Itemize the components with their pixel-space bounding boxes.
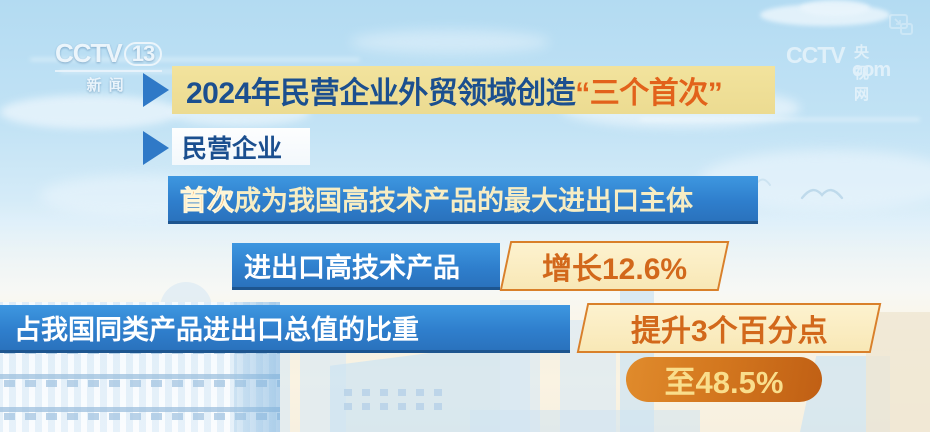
logo-divider bbox=[55, 70, 162, 72]
point-2-tag: 增长12.6% bbox=[500, 241, 730, 291]
headline-main-text: 2024年民营企业外贸领域创造 bbox=[186, 77, 575, 110]
window bbox=[362, 403, 370, 410]
point-3-pill: 至48.5% bbox=[626, 357, 822, 402]
window bbox=[434, 403, 442, 410]
headline-highlight-text: “三个首次” bbox=[575, 77, 722, 110]
broadcast-graphic-screen: CCTV 13 新闻 CCTV 央视网 com 2024年民营企业外贸领域创造“… bbox=[0, 0, 930, 432]
window bbox=[344, 389, 352, 396]
window bbox=[362, 389, 370, 396]
window bbox=[380, 389, 388, 396]
subhead-box: 民营企业 bbox=[172, 128, 310, 165]
point-3-tag-value: 提升3个百分点 bbox=[631, 306, 828, 350]
subhead-label: 民营企业 bbox=[182, 129, 282, 165]
page-title: 2024年民营企业外贸领域创造“三个首次” bbox=[186, 68, 722, 112]
point-3-label: 占我国同类产品进出口总值的比重 bbox=[14, 308, 419, 347]
cctv-logo-letters: CCTV bbox=[55, 38, 122, 69]
window bbox=[398, 403, 406, 410]
point-1-highlight: 首次 bbox=[180, 186, 234, 216]
window bbox=[416, 389, 424, 396]
point-3-pill-value: 至48.5% bbox=[665, 357, 784, 402]
cctv-logo-word: CCTV 13 bbox=[55, 38, 162, 69]
headline-arrow-icon bbox=[143, 73, 169, 107]
window bbox=[380, 403, 388, 410]
subhead-arrow-icon bbox=[143, 131, 169, 165]
cctv-channel-number: 13 bbox=[124, 42, 162, 66]
window bbox=[434, 389, 442, 396]
building-base bbox=[470, 410, 700, 432]
point-1-text: 首次成为我国高技术产品的最大进出口主体 bbox=[180, 179, 693, 218]
window bbox=[416, 403, 424, 410]
watermark-cctv: CCTV bbox=[786, 44, 845, 67]
picture-in-picture-icon bbox=[888, 12, 914, 43]
window bbox=[344, 403, 352, 410]
point-3-bar: 占我国同类产品进出口总值的比重 bbox=[0, 305, 570, 350]
watermark-com: com bbox=[852, 59, 890, 82]
window bbox=[398, 389, 406, 396]
point-3-tag: 提升3个百分点 bbox=[577, 303, 882, 353]
point-1-bar: 首次成为我国高技术产品的最大进出口主体 bbox=[168, 176, 758, 221]
cctv-com-watermark: CCTV 央视网 com bbox=[786, 44, 845, 67]
point-2-bar: 进出口高技术产品 bbox=[232, 243, 500, 287]
point-2-label: 进出口高技术产品 bbox=[244, 246, 460, 285]
sky-streak bbox=[640, 118, 920, 121]
headline-banner: 2024年民营企业外贸领域创造“三个首次” bbox=[172, 66, 775, 114]
building bbox=[866, 312, 930, 432]
cloud bbox=[350, 30, 550, 54]
point-1-body: 成为我国高技术产品的最大进出口主体 bbox=[234, 186, 693, 216]
point-2-tag-value: 增长12.6% bbox=[542, 244, 687, 288]
cloud bbox=[800, 0, 870, 16]
